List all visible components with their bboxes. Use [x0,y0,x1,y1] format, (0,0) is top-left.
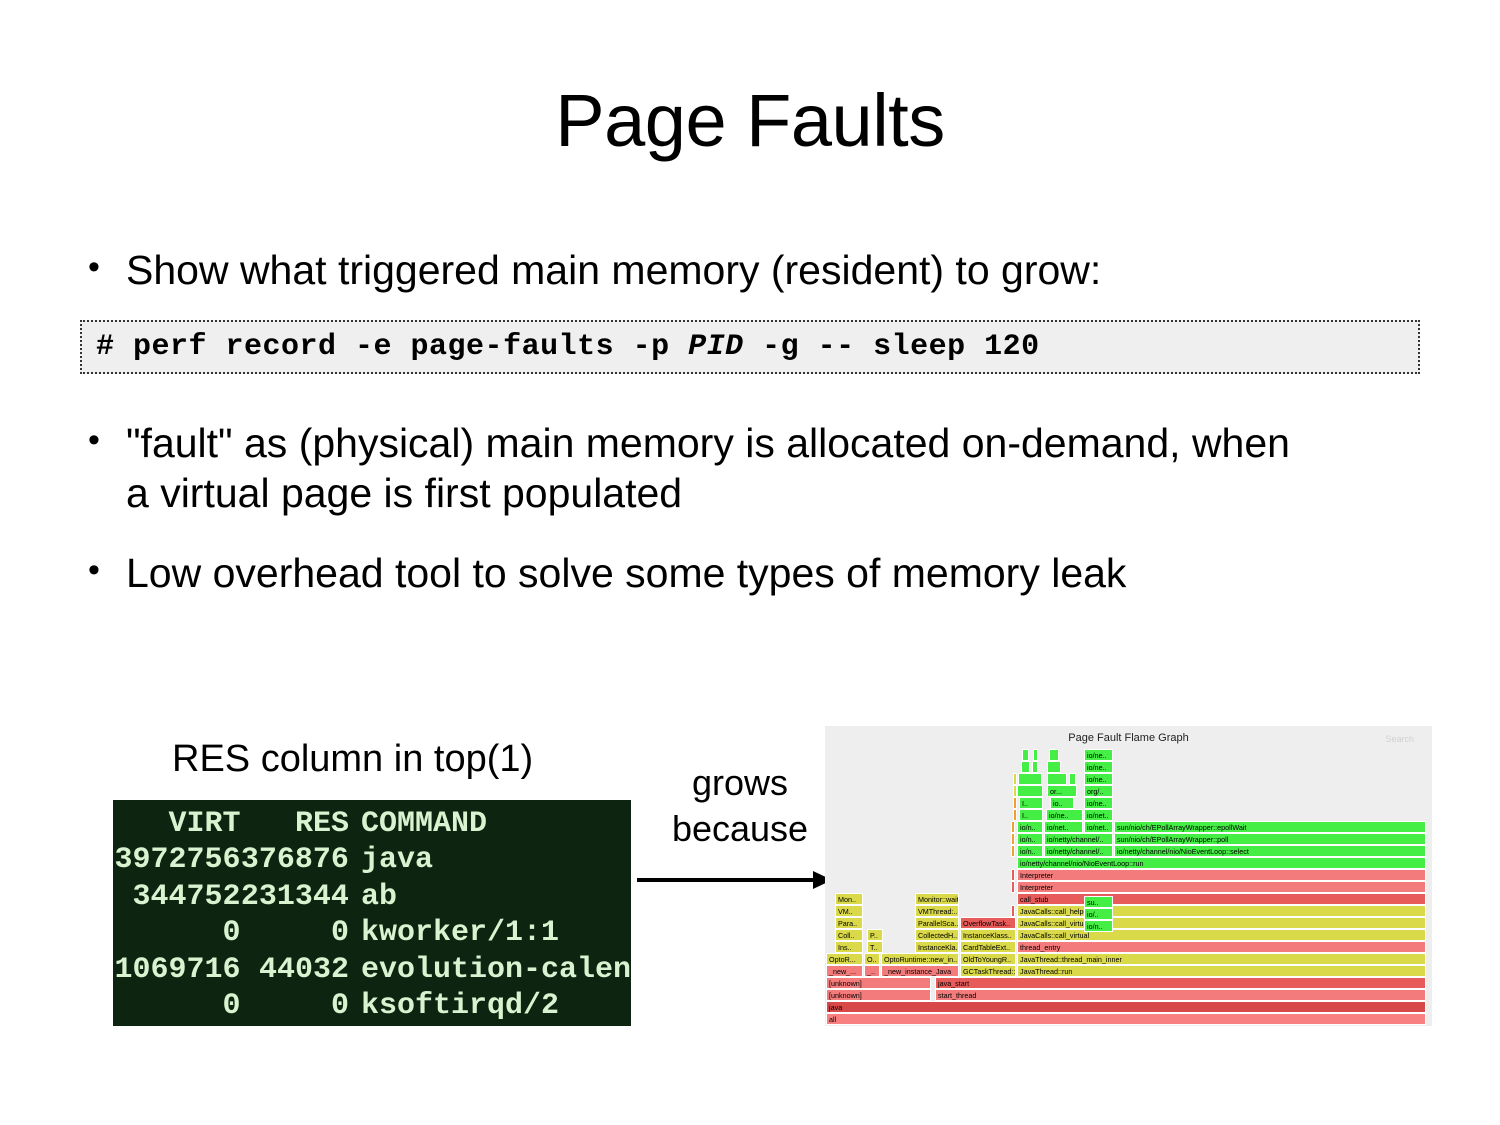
flow-arrow [637,868,832,892]
flame-frame-label: io/netty/channel/.. [1047,847,1103,856]
flame-frame[interactable] [1022,749,1029,761]
table-row: 0 0 ksoftirqd/2 [113,988,631,1024]
flame-frame-label: io/ne.. [1087,799,1107,808]
table-row: 3972756 376876 java [113,842,631,878]
top-terminal-screenshot: VIRT RES COMMAND 3972756 376876 java 344… [113,800,631,1026]
bullet-text-2: "fault" as (physical) main memory is all… [126,418,1298,519]
cell-command: ksoftirqd/2 [361,988,631,1024]
flame-frame-label: InstanceKlass.. [963,931,1012,940]
flame-frame-label: io/ne.. [1087,775,1107,784]
flame-frame-label: T.. [870,943,878,952]
flame-frame[interactable]: OptoR... [826,953,863,965]
flame-frame-label: io/ne.. [1087,763,1107,772]
flame-frame[interactable]: io/n.. [1017,833,1043,845]
flame-frame[interactable]: CardTableExt.. [960,941,1016,953]
bullet-item-2: • "fault" as (physical) main memory is a… [88,418,1298,519]
flame-frame[interactable]: Interpreter [1017,869,1426,881]
flame-frame[interactable]: InstanceKla.. [915,941,959,953]
page-title: Page Faults [0,82,1500,160]
flame-frame[interactable]: OptoRuntime::new_in.. [881,953,959,965]
flame-frame-label: ParallelSca.. [918,919,958,928]
flame-frame[interactable]: io/ne.. [1084,749,1113,761]
flame-frame[interactable]: _new_instance_Java [881,965,959,977]
table-header-row: VIRT RES COMMAND [113,806,631,842]
flame-frame-label: Monitor::wait [918,895,959,904]
command-suffix: -g -- sleep 120 [744,330,1040,364]
flame-frame-label: io/n.. [1020,823,1036,832]
table-row: 344752 231344 ab [113,879,631,915]
cell-res: 376876 [241,842,361,878]
flame-frame[interactable]: JavaCalls::call_virtual [1017,929,1426,941]
flame-frame[interactable]: or... [1047,785,1077,797]
top-output-body: 3972756 376876 java 344752 231344 ab 0 0… [113,842,631,1024]
table-row: 1069716 44032 evolution-calen [113,952,631,988]
flame-frame-label: Mon.. [838,895,856,904]
flame-frame-label: sun/nio/ch/EPollArrayWrapper::epollWait [1117,823,1246,832]
flame-frame-label: OptoRuntime::new_in.. [884,955,957,964]
flame-frame[interactable]: io/net.. [1084,809,1113,821]
flame-frame[interactable]: JavaCalls::call_virtual [1017,917,1426,929]
flame-frame-label: org/.. [1087,787,1103,796]
bullet-item-1: • Show what triggered main memory (resid… [88,245,1418,295]
flame-frame-label: VM.. [838,907,853,916]
res-column-caption: RES column in top(1) [172,738,533,781]
flame-frame[interactable]: P.. [867,929,883,941]
flame-frame-label: io/ne.. [1049,811,1069,820]
cell-command: kworker/1:1 [361,915,631,951]
flame-frame-label: su.. [1087,898,1099,907]
flame-frame[interactable]: io/netty/channel/.. [1044,833,1113,845]
flame-frame[interactable]: java_start [935,977,1426,989]
flame-frame[interactable]: io/ne.. [1084,761,1113,773]
flame-graph-canvas[interactable]: alljava[unknown]start_thread[unknown]jav… [825,744,1432,1026]
flame-frame[interactable]: OverflowTask.. [960,917,1016,929]
flame-frame-label: InstanceKla.. [918,943,959,952]
flame-frame-label: call_stub [1020,895,1048,904]
cell-res: 0 [241,915,361,951]
flame-frame[interactable]: start_thread [935,989,1426,1001]
flame-frame[interactable]: CollectedH.. [915,929,959,941]
flame-frame[interactable] [1049,749,1059,761]
flame-frame[interactable] [1011,833,1015,845]
flame-frame-label: io/net.. [1047,823,1069,832]
flame-frame[interactable]: io/ne.. [1084,773,1113,785]
flame-frame[interactable]: Monitor::wait [915,893,959,905]
flame-frame[interactable]: call_stub [1017,893,1426,905]
flame-frame-label: all [829,1015,836,1024]
flame-frame-label: P.. [870,931,878,940]
flame-frame[interactable]: io/net.. [1044,821,1083,833]
cell-virt: 3972756 [113,842,241,878]
column-header-command: COMMAND [361,806,631,842]
flame-frame[interactable]: Coll.. [835,929,863,941]
flame-frame-label: io/.. [1087,910,1099,919]
flame-frame-label: io/n.. [1087,922,1103,931]
cell-virt: 344752 [113,879,241,915]
flame-frame-label: OldToYoungR.. [963,955,1011,964]
flame-frame-label: thread_entry [1020,943,1060,952]
flame-frame-label: JavaThread::run [1020,967,1072,976]
flame-frame[interactable]: JavaThread::thread_main_inner [1017,953,1426,965]
flame-frame-label: _new_instance_Java [884,967,951,976]
flame-frame-label: Coll.. [838,931,854,940]
cell-res: 0 [241,988,361,1024]
flame-frame[interactable] [1011,881,1015,893]
flame-frame[interactable] [1021,761,1030,773]
flame-frame[interactable] [1013,809,1017,821]
bullet-marker: • [88,418,126,464]
bullet-item-3: • Low overhead tool to solve some types … [88,548,1418,598]
flame-frame-label: Interpreter [1020,883,1053,892]
flame-frame-label: io/netty/channel/.. [1047,835,1103,844]
flame-frame-label: CardTableExt.. [963,943,1010,952]
flame-frame[interactable] [1033,749,1038,761]
grows-because-caption: grows because [660,760,820,852]
flame-frame-label: sun/nio/ch/EPollArrayWrapper::poll [1117,835,1228,844]
flame-frame[interactable]: OldToYoungR.. [960,953,1016,965]
arrow-icon [637,868,832,892]
flame-frame[interactable]: thread_entry [1017,941,1426,953]
flame-frame-label: io/n.. [1020,847,1036,856]
flame-frame[interactable]: java [826,1001,1426,1013]
flame-frame[interactable]: ParallelSca.. [915,917,959,929]
flame-frame-label: java_start [938,979,969,988]
flame-frame[interactable]: I.. [1019,797,1043,809]
flame-frame[interactable]: VM.. [835,905,863,917]
flame-frame[interactable] [1069,773,1076,785]
perf-command-text: # perf record -e page-faults -p PID -g -… [82,330,1040,364]
flame-frame[interactable]: io/net.. [1084,821,1113,833]
flame-frame[interactable] [1013,785,1017,797]
flame-frame-label: io/ne.. [1087,751,1107,760]
flame-frame[interactable] [1013,797,1017,809]
flame-frame[interactable] [1011,845,1015,857]
flame-frame-label: CollectedH.. [918,931,957,940]
bullet-text-1: Show what triggered main memory (residen… [126,245,1418,295]
flame-frame-label: JavaCalls::call_virtual [1020,919,1089,928]
flame-frame-label: GCTaskThread::... [963,967,1016,976]
flame-frame[interactable]: io/ne.. [1046,809,1083,821]
cell-virt: 0 [113,988,241,1024]
flame-frame-label: OverflowTask.. [963,919,1010,928]
flame-frame-label: _new_... [829,967,856,976]
flame-frame-label: OptoR... [829,955,856,964]
flame-frame[interactable]: all [826,1013,1426,1025]
table-row: 0 0 kworker/1:1 [113,915,631,951]
flame-frame-label: io/netty/channel/nio/NioEventLoop::run [1020,859,1143,868]
flame-frame-label: io/netty/channel/nio/NioEventLoop::selec… [1117,847,1249,856]
flame-frame-label: JavaCalls::call_helper [1020,907,1090,916]
flame-frame[interactable]: io/netty/channel/nio/NioEventLoop::run [1017,857,1426,869]
grows-line-1: grows [660,760,820,806]
flame-frame[interactable]: T.. [867,941,883,953]
flame-frame[interactable]: Interpreter [1017,881,1426,893]
bullet-marker: • [88,245,126,291]
command-pid-placeholder: PID [688,330,744,364]
flame-frame[interactable]: O.. [864,953,880,965]
flame-frame[interactable]: [unknown] [826,989,931,1001]
command-code-box: # perf record -e page-faults -p PID -g -… [80,320,1420,374]
flame-frame[interactable] [1018,773,1042,785]
flame-frame-label: io/n.. [1020,835,1036,844]
command-prefix: # perf record -e page-faults -p [96,330,688,364]
flame-frame[interactable]: io/n.. [1017,845,1043,857]
cell-command: java [361,842,631,878]
cell-res: 231344 [241,879,361,915]
bullet-text-3: Low overhead tool to solve some types of… [126,548,1418,598]
flame-frame-label: Interpreter [1020,871,1053,880]
flame-frame[interactable]: GCTaskThread::... [960,965,1016,977]
flame-graph-panel: Page Fault Flame Graph Search alljava[un… [825,726,1432,1026]
flame-frame[interactable]: Ins.. [835,941,863,953]
flame-frame[interactable]: JavaThread::run [1017,965,1426,977]
flame-frame[interactable]: io/ne.. [1084,797,1113,809]
column-header-virt: VIRT [113,806,241,842]
grows-line-2: because [660,806,820,852]
flame-frame-label: _.. [867,967,875,976]
flame-frame-label: start_thread [938,991,976,1000]
flame-frame-label: io.. [1053,799,1063,808]
flame-frame[interactable]: io/n.. [1084,920,1113,932]
column-header-res: RES [241,806,361,842]
flame-frame[interactable]: sun/nio/ch/EPollArrayWrapper::epollWait [1114,821,1426,833]
flame-frame-label: Para.. [838,919,857,928]
top-output-table: VIRT RES COMMAND 3972756 376876 java 344… [113,806,631,1025]
flame-frame[interactable]: su.. [1084,896,1113,908]
flame-frame[interactable] [1011,905,1015,917]
flame-frame-label: [unknown] [829,991,862,1000]
flame-frame-label: I.. [1022,811,1028,820]
flame-frame-label: JavaCalls::call_virtual [1020,931,1089,940]
flame-frame-label: JavaThread::thread_main_inner [1020,955,1122,964]
flame-frame-label: Ins.. [838,943,852,952]
cell-command: ab [361,879,631,915]
flame-frame[interactable]: InstanceKlass.. [960,929,1016,941]
cell-command: evolution-calen [361,952,631,988]
flame-frame[interactable]: org/.. [1084,785,1113,797]
flame-frame[interactable]: _.. [864,965,880,977]
flame-frame-label: I.. [1022,799,1028,808]
flame-frame[interactable] [1017,785,1043,797]
flame-frame-label: java [829,1003,842,1012]
flame-frame[interactable]: io/netty/channel/.. [1044,845,1113,857]
cell-virt: 1069716 [113,952,241,988]
flame-frame[interactable]: io/.. [1084,908,1113,920]
flame-frame[interactable]: [unknown] [826,977,931,989]
cell-res: 44032 [241,952,361,988]
flame-frame-label: VMThread:... [918,907,959,916]
flame-graph-search-link[interactable]: Search [1385,734,1414,744]
flame-frame-label: or... [1050,787,1062,796]
flame-frame[interactable]: VMThread:... [915,905,959,917]
flame-frame[interactable]: JavaCalls::call_helper [1017,905,1426,917]
flame-frame[interactable]: _new_... [826,965,863,977]
flame-frame[interactable]: io.. [1050,797,1074,809]
bullet-marker: • [88,548,126,594]
flame-frame[interactable] [1032,761,1038,773]
flame-frame[interactable] [1011,821,1015,833]
flame-graph-title: Page Fault Flame Graph [825,732,1432,744]
flame-frame[interactable] [1047,761,1061,773]
flame-frame[interactable]: Mon.. [835,893,863,905]
flame-frame[interactable]: Para.. [835,917,863,929]
flame-frame[interactable] [1047,773,1067,785]
flame-frame-label: [unknown] [829,979,862,988]
flame-frame[interactable] [1011,869,1015,881]
flame-frame[interactable]: I.. [1019,809,1043,821]
flame-frame[interactable]: io/netty/channel/nio/NioEventLoop::selec… [1114,845,1426,857]
flame-frame-label: io/net.. [1087,823,1109,832]
flame-frame[interactable]: sun/nio/ch/EPollArrayWrapper::poll [1114,833,1426,845]
flame-frame-label: io/net.. [1087,811,1109,820]
flame-frame[interactable] [1013,773,1017,785]
cell-virt: 0 [113,915,241,951]
flame-frame[interactable]: io/n.. [1017,821,1043,833]
flame-frame-label: O.. [867,955,877,964]
